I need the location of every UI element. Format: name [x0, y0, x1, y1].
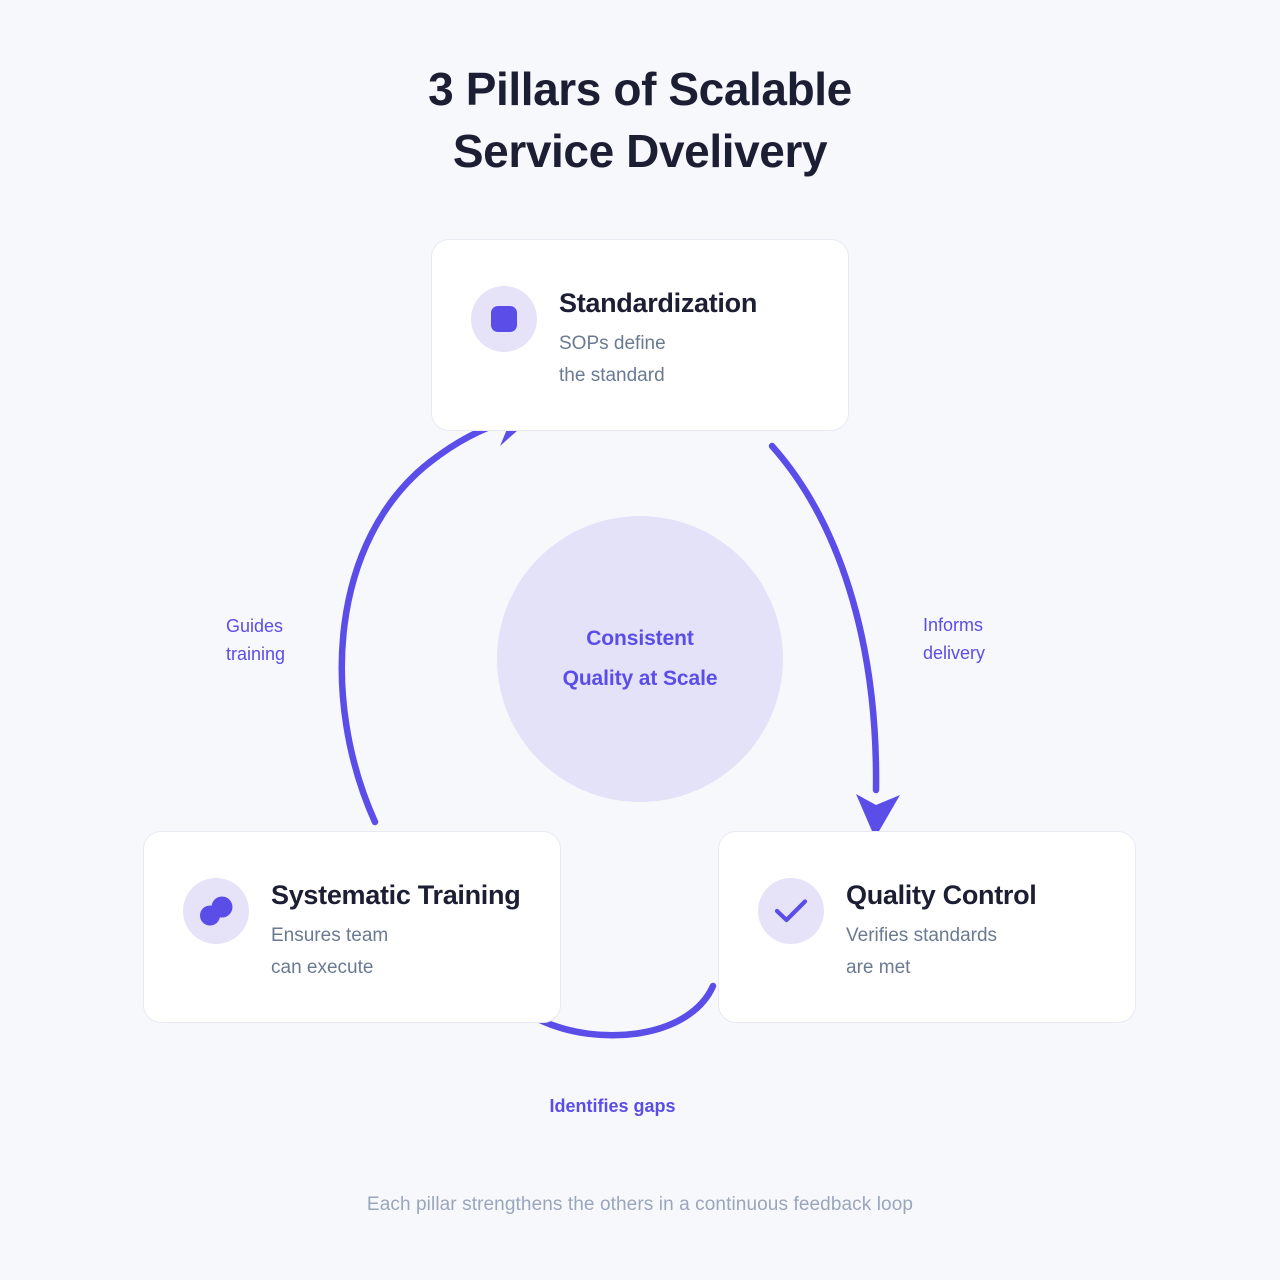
- arrow-label-guides-line-1: Guides: [226, 612, 285, 640]
- page-title-line-2: Service Dvelivery: [0, 120, 1280, 182]
- card-systematic-training-desc-line-2: can execute: [271, 952, 520, 984]
- card-standardization-desc-line-1: SOPs define: [559, 328, 757, 360]
- arrow-label-informs-delivery: Informs delivery: [923, 611, 985, 667]
- card-quality-control-desc-line-2: are met: [846, 952, 1037, 984]
- card-standardization[interactable]: Standardization SOPs define the standard: [431, 239, 849, 431]
- card-quality-control-desc: Verifies standards are met: [846, 920, 1037, 984]
- check-icon: [758, 878, 824, 944]
- arrow-label-identifies-gaps: Identifies gaps: [0, 1092, 1225, 1120]
- card-quality-control[interactable]: Quality Control Verifies standards are m…: [718, 831, 1136, 1023]
- card-standardization-desc-line-2: the standard: [559, 360, 757, 392]
- rounded-square-icon: [471, 286, 537, 352]
- arrow-label-informs-line-2: delivery: [923, 639, 985, 667]
- center-circle: Consistent Quality at Scale: [497, 516, 783, 802]
- card-quality-control-text: Quality Control Verifies standards are m…: [846, 876, 1037, 984]
- center-circle-line-2: Quality at Scale: [563, 659, 718, 699]
- two-circles-icon: [183, 878, 249, 944]
- page-title-line-1: 3 Pillars of Scalable: [0, 58, 1280, 120]
- footer-note: Each pillar strengthens the others in a …: [0, 1194, 1280, 1216]
- arrow-label-guides-training: Guides training: [226, 612, 285, 668]
- card-quality-control-desc-line-1: Verifies standards: [846, 920, 1037, 952]
- center-circle-line-1: Consistent: [586, 619, 694, 659]
- card-systematic-training-title: Systematic Training: [271, 878, 520, 912]
- arrow-label-informs-line-1: Informs: [923, 611, 985, 639]
- card-standardization-text: Standardization SOPs define the standard: [559, 284, 757, 392]
- arrow-standardization-to-quality: [772, 446, 900, 838]
- card-systematic-training[interactable]: Systematic Training Ensures team can exe…: [143, 831, 561, 1023]
- arrow-label-guides-line-2: training: [226, 640, 285, 668]
- diagram-canvas: 3 Pillars of Scalable Service Dvelivery …: [0, 0, 1280, 1280]
- card-standardization-desc: SOPs define the standard: [559, 328, 757, 392]
- card-systematic-training-desc: Ensures team can execute: [271, 920, 520, 984]
- card-systematic-training-desc-line-1: Ensures team: [271, 920, 520, 952]
- card-systematic-training-text: Systematic Training Ensures team can exe…: [271, 876, 520, 984]
- card-standardization-title: Standardization: [559, 286, 757, 320]
- card-quality-control-title: Quality Control: [846, 878, 1037, 912]
- page-title: 3 Pillars of Scalable Service Dvelivery: [0, 58, 1280, 182]
